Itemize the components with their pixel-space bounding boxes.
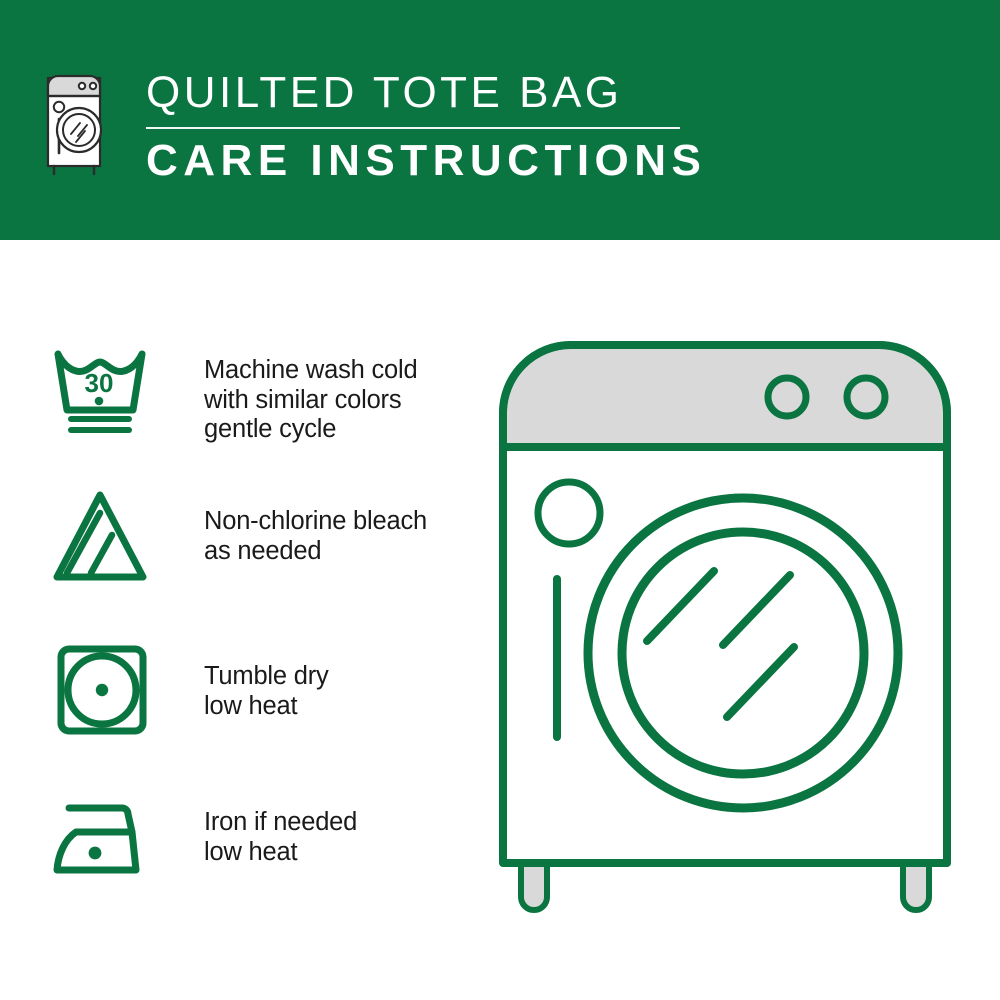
tumble-dry-low-heat-icon [50, 640, 160, 740]
wash-temperature-label: 30 [85, 368, 114, 398]
care-instructions-list: 30 Machine wash cold with similar colors… [0, 240, 480, 1000]
wash-tub-30-gentle-icon: 30 [50, 340, 160, 440]
header-banner: QUILTED TOTE BAG CARE INSTRUCTIONS [0, 0, 1000, 240]
list-item-label: Iron if needed low heat [204, 790, 357, 867]
washing-machine-icon [44, 70, 108, 178]
front-load-washing-machine-illustration [495, 335, 975, 935]
header-title-group: QUILTED TOTE BAG CARE INSTRUCTIONS [146, 68, 706, 186]
title-divider [146, 127, 680, 129]
page-title-secondary: CARE INSTRUCTIONS [146, 136, 706, 186]
knob-left [768, 378, 806, 416]
page-title-primary: QUILTED TOTE BAG [146, 68, 706, 118]
list-item: Non-chlorine bleach as needed [50, 485, 427, 585]
non-chlorine-bleach-triangle-icon [50, 485, 160, 585]
list-item: Tumble dry low heat [50, 640, 329, 740]
list-item-label: Machine wash cold with similar colors ge… [204, 340, 417, 445]
list-item: Iron if needed low heat [50, 790, 357, 890]
door-inner-ring [622, 532, 864, 774]
knob-right [847, 378, 885, 416]
list-item-label: Tumble dry low heat [204, 640, 329, 721]
detergent-indicator-circle [538, 482, 600, 544]
list-item-label: Non-chlorine bleach as needed [204, 485, 427, 566]
list-item: 30 Machine wash cold with similar colors… [50, 340, 417, 445]
iron-low-heat-icon [50, 790, 160, 890]
